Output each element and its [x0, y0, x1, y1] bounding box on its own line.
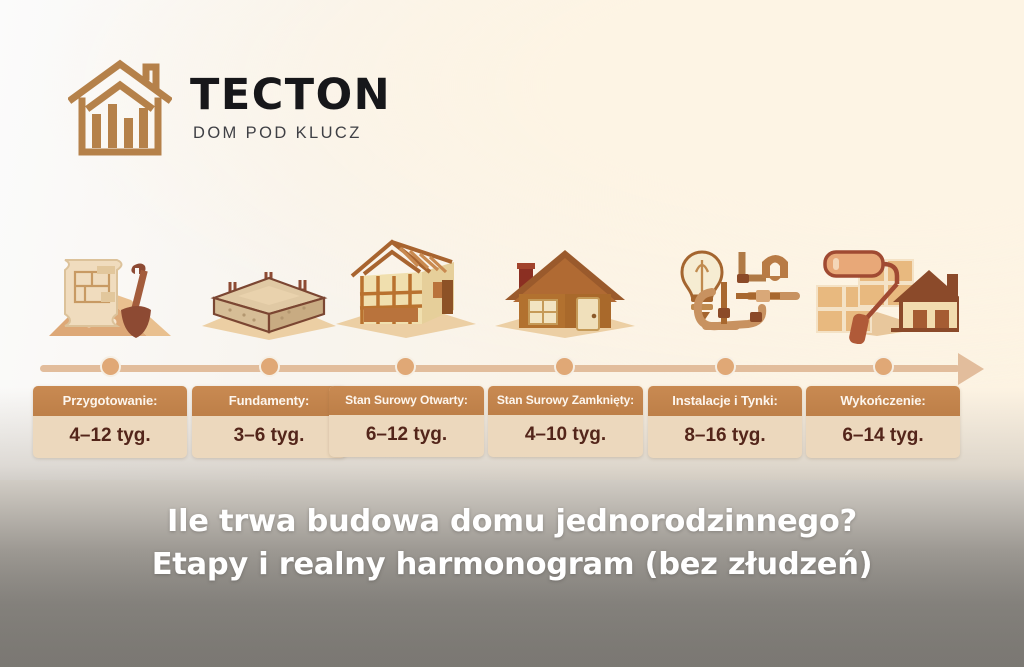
brand-tagline: DOM POD KLUCZ	[190, 124, 391, 143]
arrow-right-icon	[958, 353, 984, 385]
timeline-stage[interactable]: Wykończenie: 6–14 tyg.	[806, 236, 960, 458]
stage-duration: 8–16 tyg.	[648, 416, 802, 458]
paint-roller-house-icon	[806, 236, 960, 344]
stage-card[interactable]: Przygotowanie: 4–12 tyg.	[33, 386, 187, 458]
headline-line-1: Ile trwa budowa domu jednorodzinnego?	[167, 504, 857, 539]
stage-card[interactable]: Stan Surowy Zamknięty: 4–10 tyg.	[488, 386, 643, 457]
house-frame-icon	[329, 236, 482, 344]
stage-card[interactable]: Wykończenie: 6–14 tyg.	[806, 386, 960, 458]
stage-card[interactable]: Instalacje i Tynki: 8–16 tyg.	[648, 386, 802, 458]
bulb-pipes-icon	[648, 236, 802, 344]
timeline-dot	[259, 356, 280, 377]
foundation-rebar-icon	[192, 236, 346, 344]
stage-duration: 6–14 tyg.	[806, 416, 960, 458]
stage-label: Instalacje i Tynki:	[648, 386, 802, 416]
stage-duration: 6–12 tyg.	[329, 415, 484, 457]
timeline-stage[interactable]: Fundamenty: 3–6 tyg.	[192, 236, 346, 458]
construction-timeline: Przygotowanie: 4–12 tyg.	[0, 236, 1024, 466]
headline-line-2: Etapy i realny harmonogram (bez złudzeń)	[0, 543, 1024, 586]
timeline-dot	[715, 356, 736, 377]
timeline-dot	[873, 356, 894, 377]
brand-logo: TECTON DOM POD KLUCZ	[68, 58, 391, 158]
timeline-stage[interactable]: Stan Surowy Otwarty: 6–12 tyg.	[329, 236, 482, 457]
brand-name: TECTON	[190, 74, 391, 117]
house-outline-icon	[68, 58, 172, 158]
blueprint-shovel-icon	[33, 236, 187, 344]
stage-label: Stan Surowy Otwarty:	[329, 386, 484, 415]
stage-duration: 4–12 tyg.	[33, 416, 187, 458]
timeline-stage[interactable]: Instalacje i Tynki: 8–16 tyg.	[648, 236, 802, 458]
stage-card[interactable]: Stan Surowy Otwarty: 6–12 tyg.	[329, 386, 484, 457]
timeline-stage[interactable]: Stan Surowy Zamknięty: 4–10 tyg.	[488, 236, 641, 457]
stage-label: Wykończenie:	[806, 386, 960, 416]
stage-label: Przygotowanie:	[33, 386, 187, 416]
timeline-stage[interactable]: Przygotowanie: 4–12 tyg.	[33, 236, 187, 458]
stage-duration: 3–6 tyg.	[192, 416, 346, 458]
timeline-dot	[554, 356, 575, 377]
stage-label: Stan Surowy Zamknięty:	[488, 386, 643, 415]
timeline-dot	[395, 356, 416, 377]
brand-wordmark: TECTON DOM POD KLUCZ	[190, 74, 391, 143]
stage-duration: 4–10 tyg.	[488, 415, 643, 457]
closed-shell-house-icon	[488, 236, 641, 344]
stage-card[interactable]: Fundamenty: 3–6 tyg.	[192, 386, 346, 458]
page-headline: Ile trwa budowa domu jednorodzinnego? Et…	[0, 500, 1024, 587]
timeline-dot	[100, 356, 121, 377]
stage-label: Fundamenty:	[192, 386, 346, 416]
